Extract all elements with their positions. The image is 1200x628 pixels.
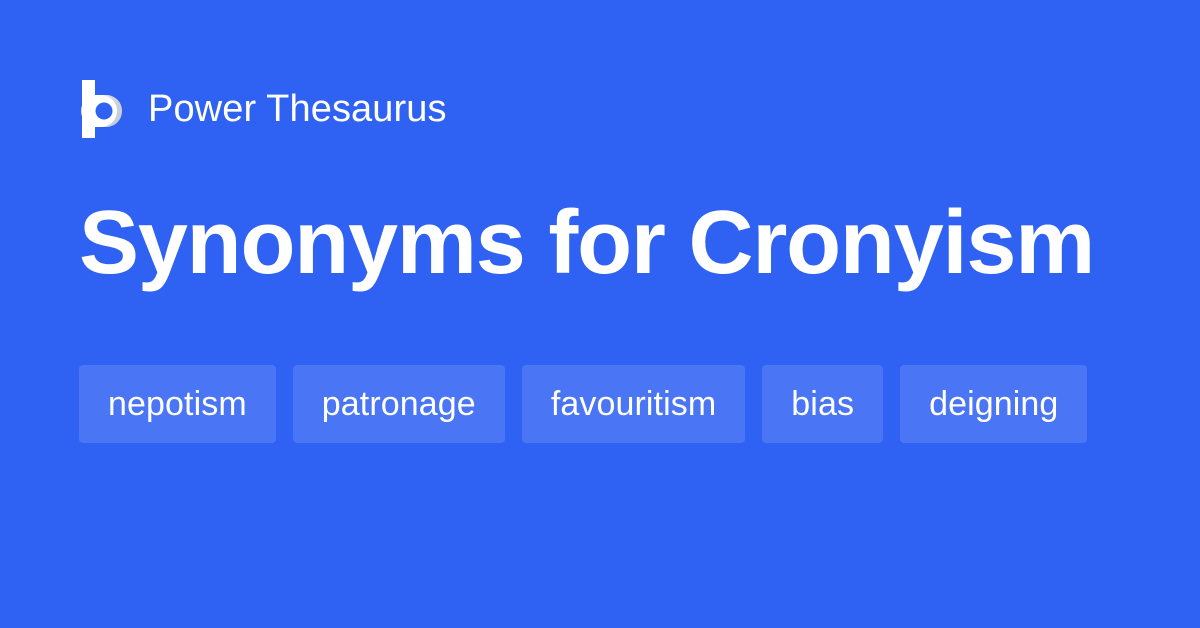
brand-name: power thesaurus [148,90,447,128]
synonym-chip-list: nepotism patronage favouritism bias deig… [79,365,1119,443]
synonym-chip[interactable]: nepotism [79,365,276,443]
share-card: power thesaurus Synonyms for Cronyism ne… [0,0,1200,628]
synonym-chip[interactable]: favouritism [522,365,745,443]
page-title: Synonyms for Cronyism [79,194,1094,293]
synonym-chip[interactable]: patronage [293,365,505,443]
brand-lockup[interactable]: power thesaurus [79,80,447,138]
synonym-chip[interactable]: deigning [900,365,1087,443]
synonym-chip[interactable]: bias [762,365,883,443]
power-thesaurus-b-logomark-icon [79,80,126,138]
